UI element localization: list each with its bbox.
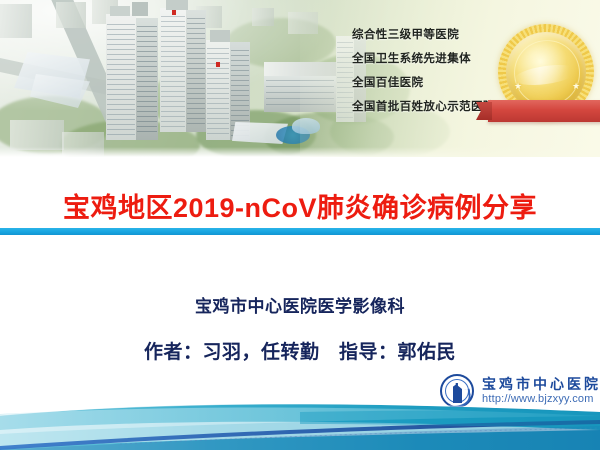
hospital-main-tower <box>106 14 158 140</box>
medal-star-left: ★ <box>514 82 522 91</box>
department-line: 宝鸡市中心医院医学影像科 <box>0 292 600 317</box>
medal-star-right: ★ <box>572 82 580 91</box>
bottom-wave-decoration <box>0 390 600 450</box>
authors-line: 作者：习羽，任转勤 指导：郭佑民 <box>0 337 600 364</box>
presentation-title-slide: 综合性三级甲等医院 全国卫生系统先进集体 全国百佳医院 全国首批百姓放心示范医院… <box>0 0 600 450</box>
slide-title: 宝鸡地区2019-nCoV肺炎确诊病例分享 <box>0 186 600 225</box>
title-divider-rule <box>0 228 600 235</box>
medal-red-ribbon <box>488 100 600 122</box>
hospital-campus-banner-photo: 综合性三级甲等医院 全国卫生系统先进集体 全国百佳医院 全国首批百姓放心示范医院… <box>0 0 600 157</box>
hospital-second-tower <box>160 8 206 132</box>
gold-medal-icon: ★ ★ <box>494 22 598 140</box>
